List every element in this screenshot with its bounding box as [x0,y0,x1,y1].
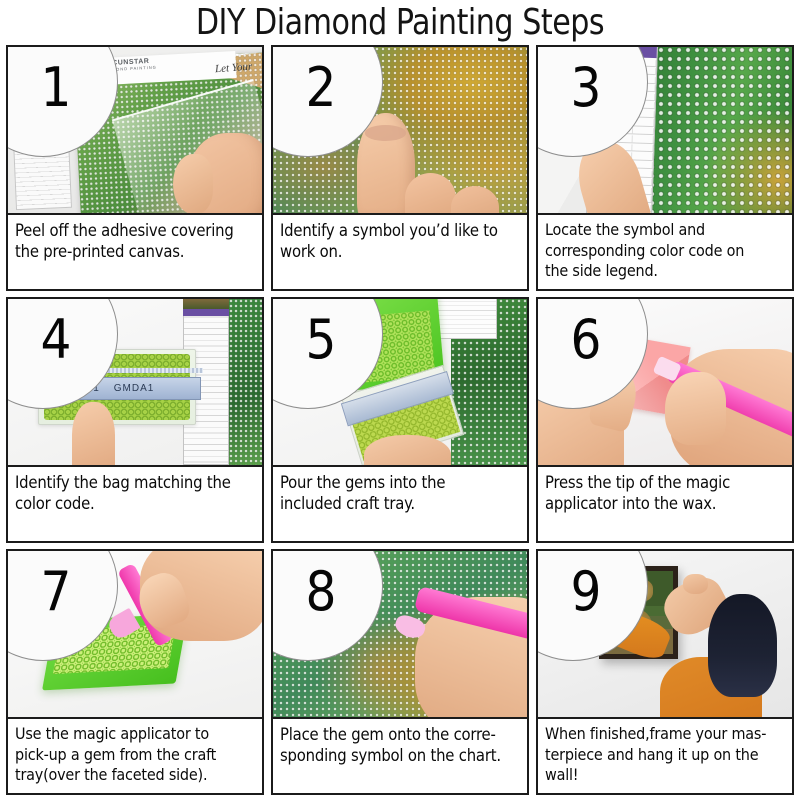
step-caption-9: When finished,frame your mas- terpiece a… [538,719,792,793]
step-number-7: 7 [10,553,102,631]
canvas-handwriting: Let Your [214,61,252,76]
step-panel-3: 3 Locate the symbol and corresponding co… [536,45,794,291]
step-panel-4: 581 GMDA1 4 Identify the bag matching th… [6,297,264,543]
step-number-9: 9 [540,553,632,631]
step-panel-9: 9 When finished,frame your mas- terpiece… [536,549,794,795]
bag-code-right: GMDA1 [114,383,155,394]
step-number-4: 4 [10,301,102,379]
step-photo-7: 7 [8,551,262,719]
step-number-5: 5 [275,301,367,379]
step-photo-9: 9 [538,551,792,719]
step-panel-5: 5 Pour the gems into the included craft … [271,297,529,543]
step-panel-7: 7 Use the magic applicator to pick-up a … [6,549,264,795]
step-photo-2: 2 [273,47,527,215]
step-number-6: 6 [540,301,632,379]
step-number-3: 3 [540,49,632,127]
step-caption-2: Identify a symbol you’d like to work on. [273,215,527,289]
step-caption-6: Press the tip of the magic applicator in… [538,467,792,541]
step-photo-1: LUCUNSTAR DIAMOND PAINTING Let Your 1 [8,47,262,215]
step-caption-4: Identify the bag matching the color code… [8,467,262,541]
step-photo-4: 581 GMDA1 4 [8,299,262,467]
step-caption-7: Use the magic applicator to pick-up a ge… [8,719,262,793]
step-panel-6: 6 Press the tip of the magic applicator … [536,297,794,543]
step-panel-8: 8 Place the gem onto the corre- sponding… [271,549,529,795]
step-number-2: 2 [275,49,367,127]
step-caption-5: Pour the gems into the included craft tr… [273,467,527,541]
step-panel-2: 2 Identify a symbol you’d like to work o… [271,45,529,291]
step-caption-3: Locate the symbol and corresponding colo… [538,215,792,289]
step-photo-3: 3 [538,47,792,215]
step-photo-8: 8 [273,551,527,719]
steps-grid: LUCUNSTAR DIAMOND PAINTING Let Your 1 Pe… [6,45,794,795]
diy-steps-infographic: DIY Diamond Painting Steps LUCUNSTAR DIA… [0,0,800,800]
step-photo-6: 6 [538,299,792,467]
step-caption-1: Peel off the adhesive covering the pre-p… [8,215,262,289]
page-title: DIY Diamond Painting Steps [28,0,772,44]
step-caption-8: Place the gem onto the corre- sponding s… [273,719,527,793]
step-number-1: 1 [10,49,102,127]
step-photo-5: 5 [273,299,527,467]
step-number-8: 8 [275,553,367,631]
step-panel-1: LUCUNSTAR DIAMOND PAINTING Let Your 1 Pe… [6,45,264,291]
